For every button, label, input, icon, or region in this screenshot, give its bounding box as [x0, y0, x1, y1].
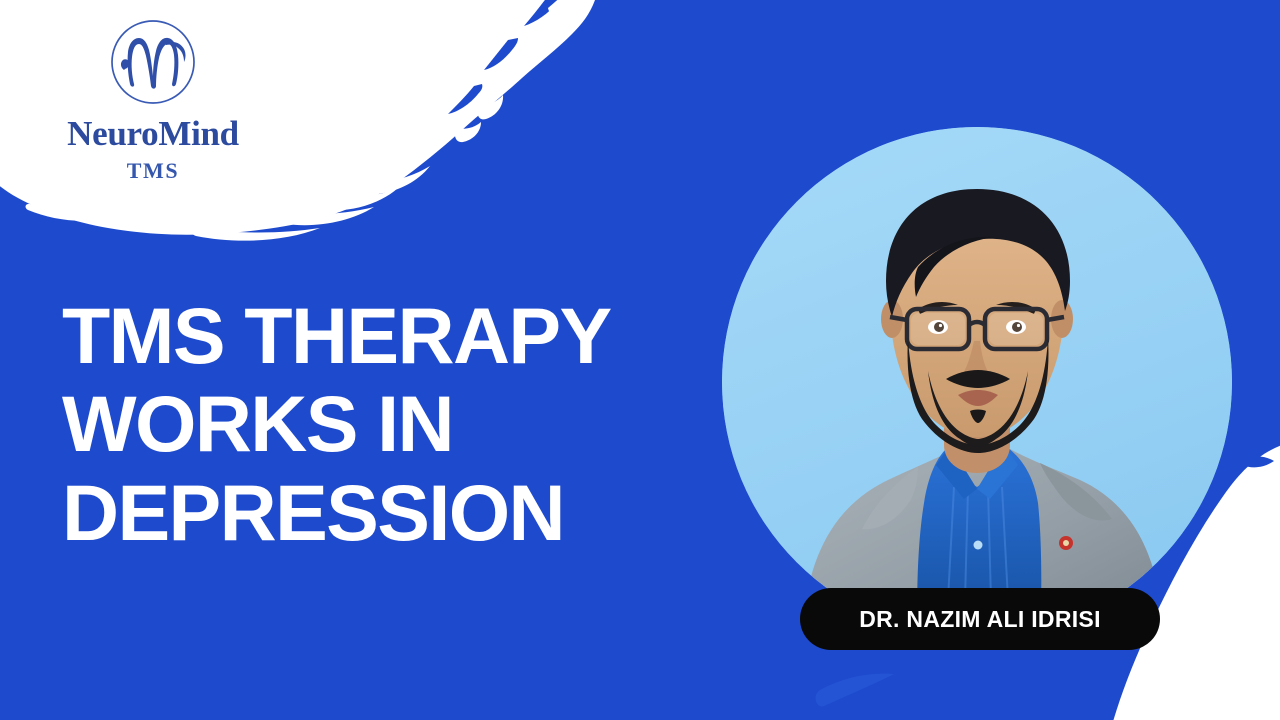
headline-line-3: DEPRESSION	[62, 474, 722, 551]
brand-subtitle: TMS	[48, 158, 258, 184]
portrait-circle-backdrop	[722, 127, 1232, 637]
brand-name: NeuroMind	[48, 116, 258, 152]
headline-line-1: TMS THERAPY	[62, 297, 722, 374]
headline-line-2: WORKS IN	[62, 385, 722, 462]
presenter-name-badge: DR. NAZIM ALI IDRISI	[800, 588, 1160, 650]
doctor-portrait	[722, 127, 1232, 637]
circle-monogram-icon	[94, 14, 212, 114]
headline: TMS THERAPY WORKS IN DEPRESSION	[62, 297, 722, 551]
thumbnail-canvas: NeuroMind TMS TMS THERAPY WORKS IN DEPRE…	[0, 0, 1280, 720]
presenter-name: DR. NAZIM ALI IDRISI	[859, 606, 1101, 633]
bottom-swoosh	[816, 674, 894, 707]
brand-logo[interactable]: NeuroMind TMS	[48, 14, 258, 184]
